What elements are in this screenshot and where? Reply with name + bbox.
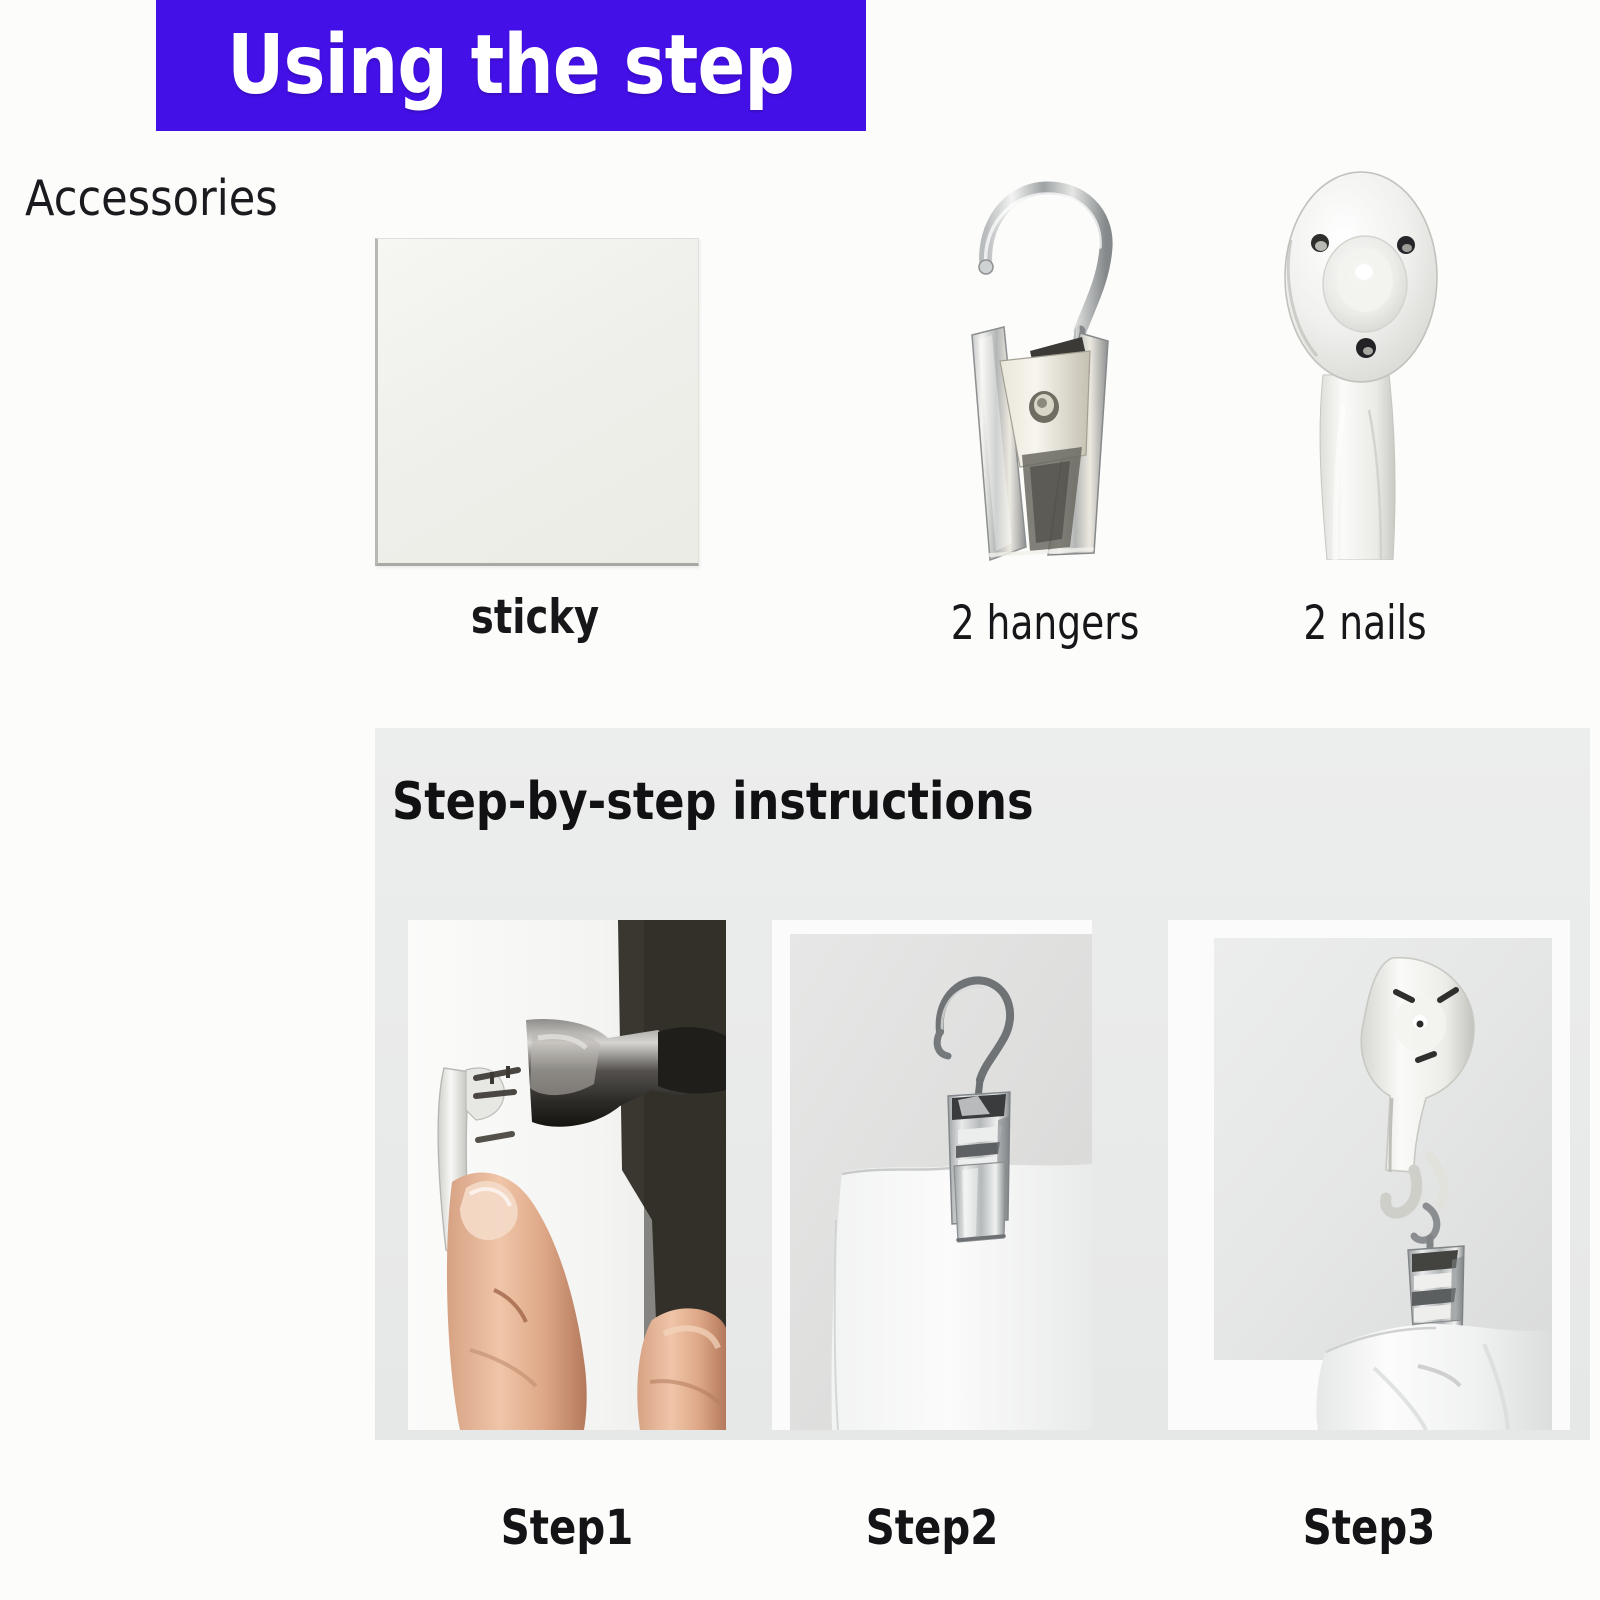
step-label-3: Step3 — [1200, 1500, 1538, 1556]
product-instruction-infographic: Using the step Accessories sticky — [0, 0, 1600, 1600]
step-label-2: Step2 — [798, 1500, 1067, 1556]
title-banner: Using the step — [156, 0, 866, 131]
hammer-nailing-hook-photo — [408, 920, 726, 1430]
white-wall-hook-icon — [1265, 160, 1460, 560]
accessory-label-sticky: sticky — [404, 590, 666, 645]
hook-with-clip-and-fabric-photo — [1168, 920, 1570, 1430]
accessory-label-hangers: 2 hangers — [929, 596, 1161, 651]
metal-hook-clip-icon — [930, 155, 1150, 565]
instructions-heading: Step-by-step instructions — [392, 772, 1034, 832]
accessories-heading: Accessories — [25, 170, 278, 227]
step-label-1: Step1 — [433, 1500, 700, 1556]
clip-holding-sheet-photo — [772, 920, 1092, 1430]
adhesive-square-icon — [375, 238, 699, 566]
page-title: Using the step — [228, 25, 795, 107]
accessory-label-nails: 2 nails — [1273, 596, 1457, 651]
